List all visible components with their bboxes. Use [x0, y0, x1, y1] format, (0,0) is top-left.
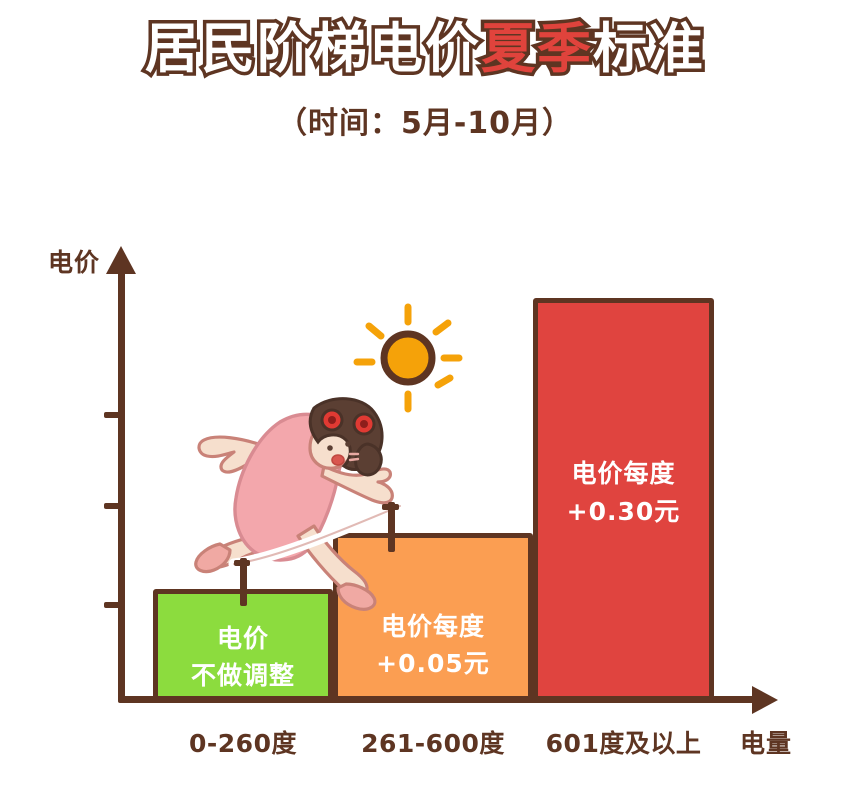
bar-chart: 电价 电量 电价 不做调整 电价每度 +0.05元 电价每度 +0.30元 0-…	[0, 0, 850, 785]
y-axis-tick	[104, 602, 120, 608]
y-axis-line	[118, 272, 125, 700]
hurdle-icon	[228, 498, 408, 610]
y-axis-label: 电价	[48, 243, 100, 279]
y-axis-tick	[104, 412, 120, 418]
x-axis-category-label: 261-600度	[333, 724, 533, 760]
x-axis-category-label: 601度及以上	[533, 724, 714, 760]
y-axis-tick	[104, 503, 120, 509]
x-axis-label: 电量	[740, 724, 792, 760]
y-axis-arrow-icon	[106, 246, 136, 274]
bar-value-label: 电价每度 +0.30元	[567, 455, 681, 530]
bar-tier-3[interactable]: 电价每度 +0.30元	[533, 298, 714, 701]
bar-value-label: 电价 不做调整	[191, 620, 295, 695]
x-axis-arrow-icon	[752, 686, 778, 714]
x-axis-category-label: 0-260度	[153, 724, 333, 760]
